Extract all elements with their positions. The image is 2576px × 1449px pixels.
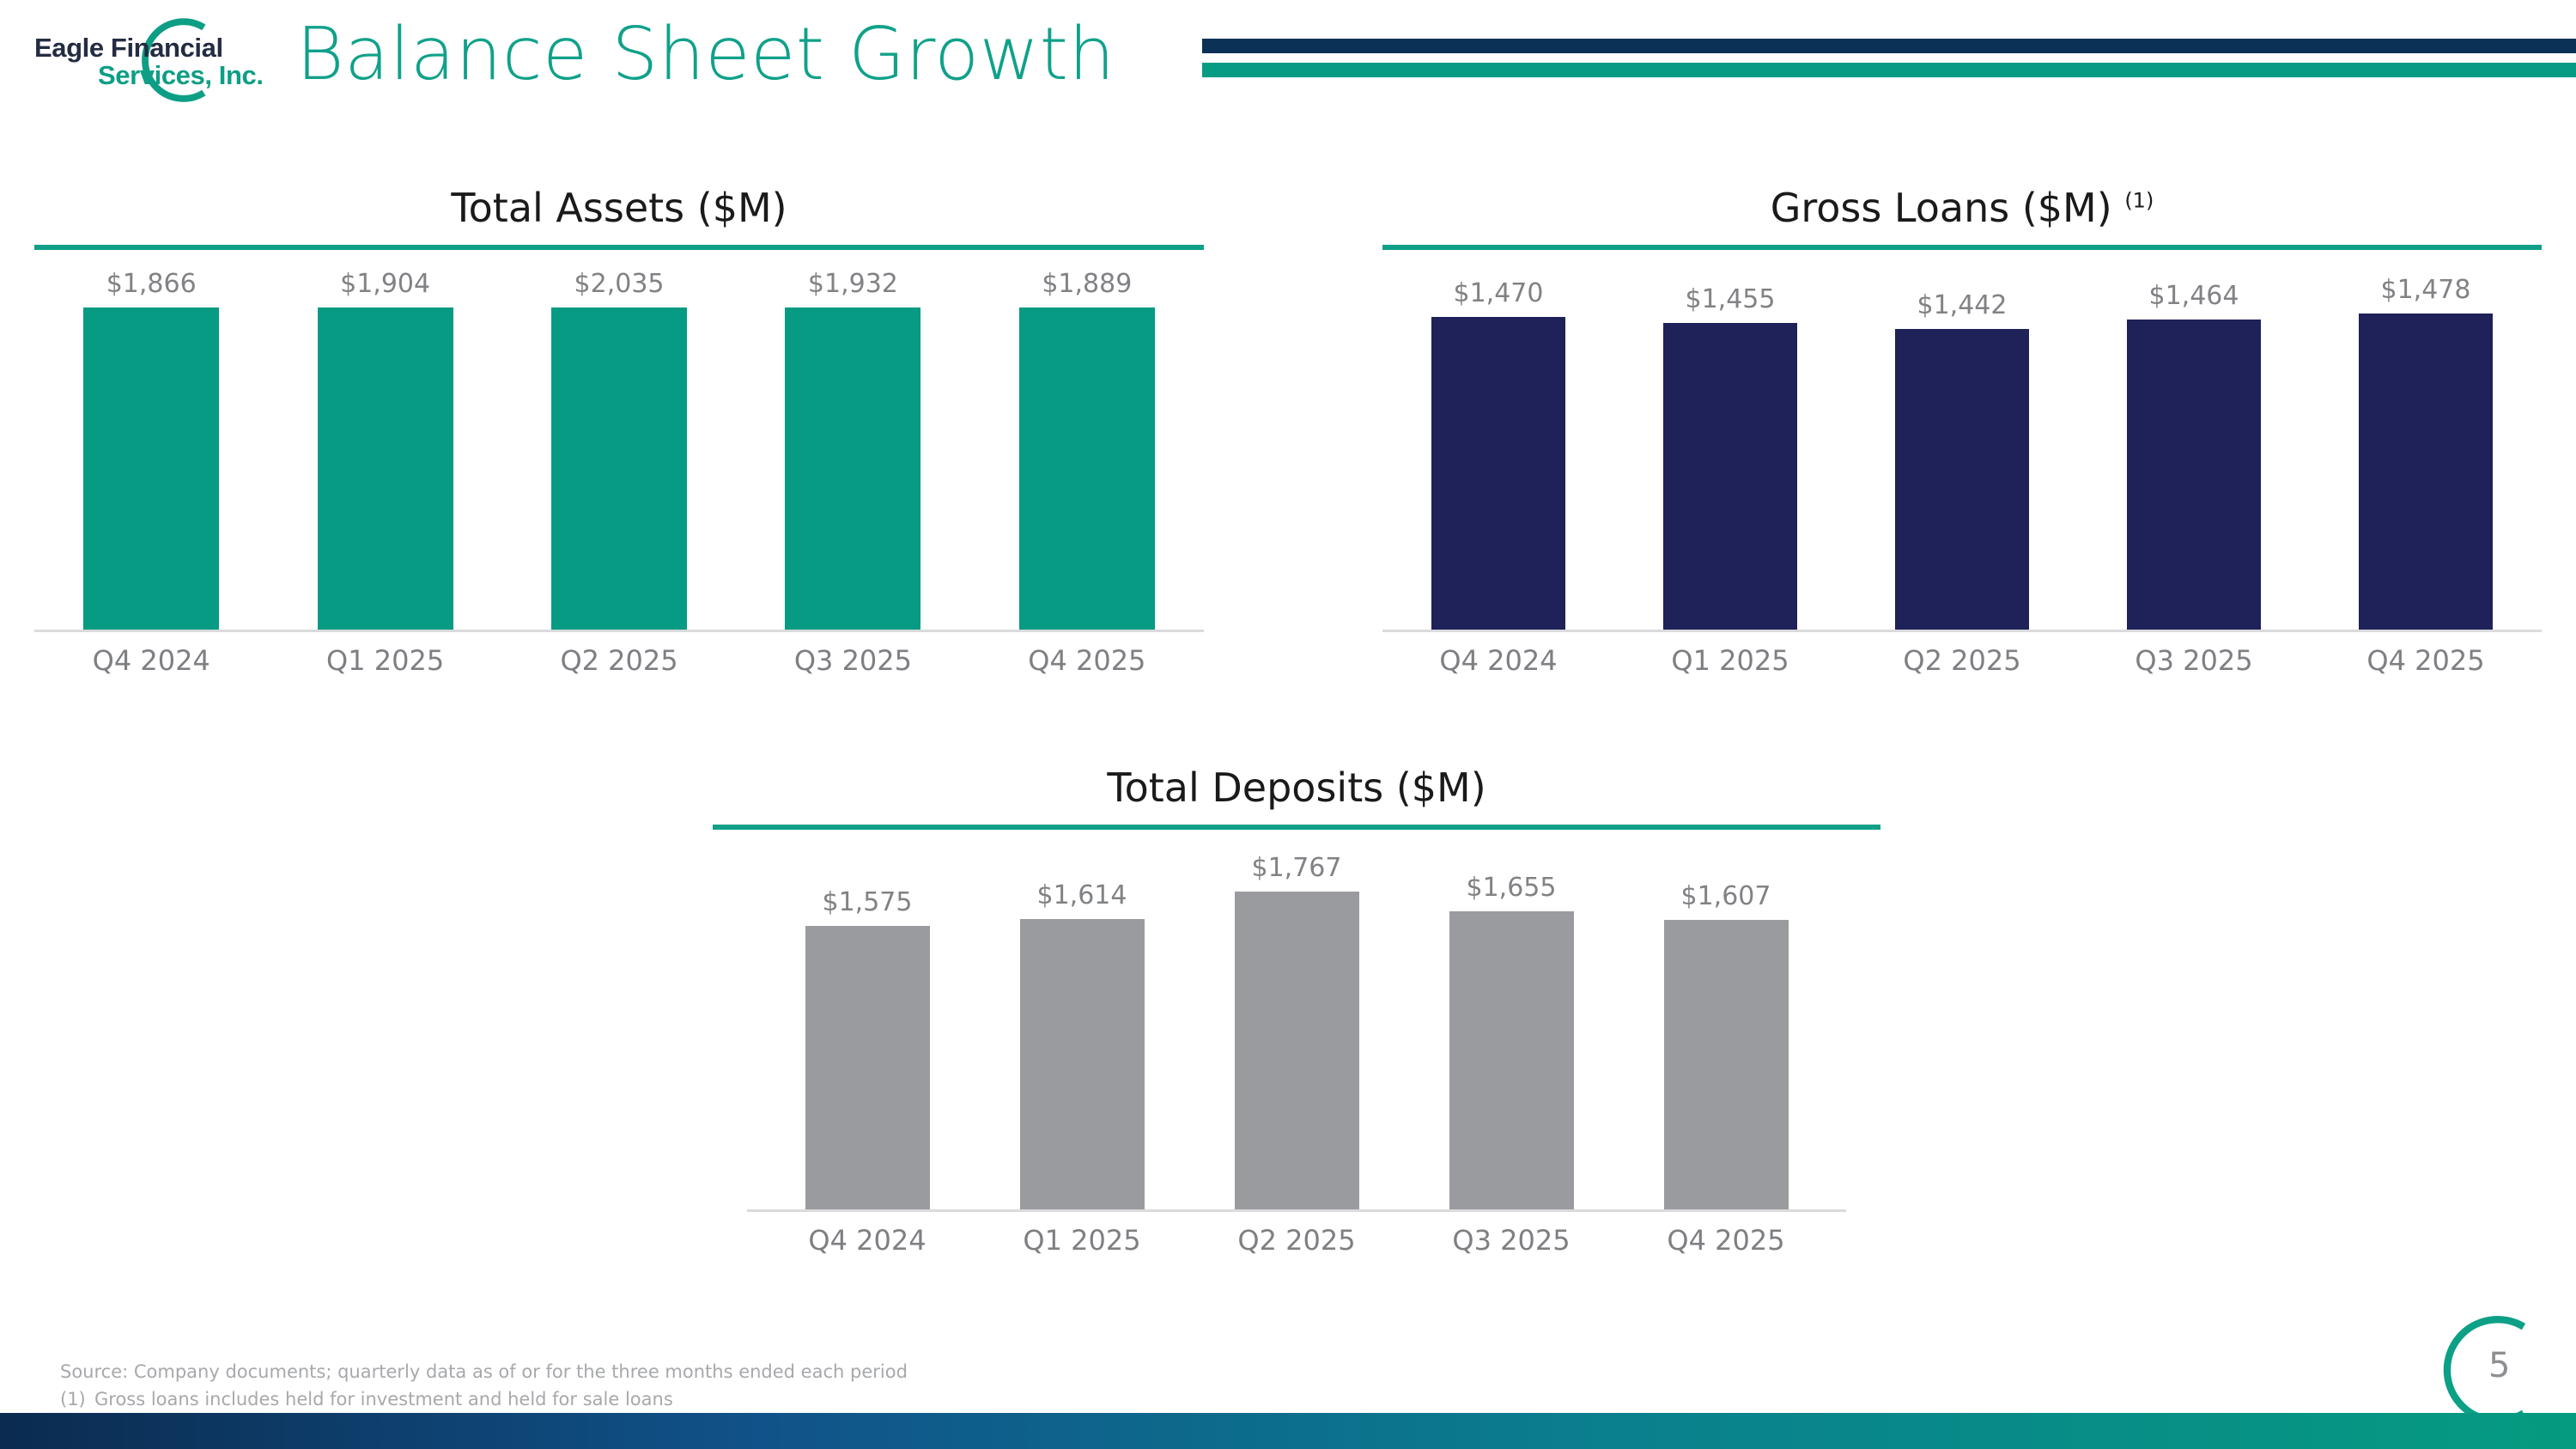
bar-column[interactable]: $1,442 (1846, 269, 2078, 630)
bar-column[interactable]: $1,889 (970, 269, 1204, 630)
chart-rule (34, 245, 1204, 250)
chart-total-assets: Total Assets ($M) $1,866 $1,904 $2,035 $… (34, 185, 1204, 677)
header-accent-bars (1202, 39, 2576, 82)
footnote-1-marker: (1) (60, 1386, 94, 1414)
x-axis-label: Q4 2024 (760, 1224, 975, 1257)
bar-value-label: $1,767 (1252, 853, 1342, 883)
bar-value-label: $1,455 (1686, 284, 1776, 314)
bar-value-label: $1,614 (1037, 880, 1127, 910)
x-axis-label: Q4 2025 (2310, 644, 2542, 677)
bar-column[interactable]: $1,470 (1382, 269, 1614, 630)
chart-title-total-assets: Total Assets ($M) (34, 185, 1204, 231)
plot-area: $1,575 $1,614 $1,767 $1,655 $1,607 (713, 849, 1880, 1209)
x-axis-label: Q1 2025 (268, 644, 501, 677)
x-axis-label: Q3 2025 (736, 644, 969, 677)
bar[interactable] (805, 926, 930, 1209)
x-axis-label: Q1 2025 (1614, 644, 1846, 677)
chart-title-text: Total Assets ($M) (451, 185, 787, 231)
x-axis-label: Q2 2025 (1189, 1224, 1404, 1257)
chart-total-deposits: Total Deposits ($M) $1,575 $1,614 $1,767… (713, 764, 1880, 1257)
bar-value-label: $1,575 (823, 887, 913, 917)
chart-gross-loans: Gross Loans ($M) (1) $1,470 $1,455 $1,44… (1382, 185, 2542, 677)
bar-group: $1,470 $1,455 $1,442 $1,464 $1,478 (1382, 269, 2542, 630)
x-axis-label: Q4 2024 (1382, 644, 1614, 677)
bar[interactable] (1431, 317, 1566, 630)
chart-rule (713, 825, 1880, 830)
bar[interactable] (785, 307, 920, 630)
bar-column[interactable]: $1,455 (1614, 269, 1846, 630)
bar[interactable] (83, 307, 219, 630)
bar-value-label: $1,442 (1917, 290, 2008, 320)
bar-column[interactable]: $1,607 (1619, 849, 1833, 1209)
bar-value-label: $1,464 (2149, 281, 2239, 311)
logo-line-1: Eagle Financial (27, 34, 276, 62)
bar-value-label: $1,904 (340, 269, 430, 299)
bar[interactable] (551, 307, 687, 630)
bar-column[interactable]: $1,655 (1404, 849, 1619, 1209)
footnote-source: Source: Company documents; quarterly dat… (60, 1359, 908, 1386)
bar-column[interactable]: $1,464 (2078, 269, 2310, 630)
footnotes: Source: Company documents; quarterly dat… (60, 1359, 908, 1413)
bar[interactable] (1020, 919, 1145, 1209)
x-axis-line (1382, 630, 2542, 632)
slide: Eagle Financial Services, Inc. Balance S… (0, 0, 2576, 1449)
x-axis-label: Q1 2025 (975, 1224, 1189, 1257)
footnote-1-row: (1) Gross loans includes held for invest… (60, 1386, 908, 1414)
bar[interactable] (2127, 320, 2262, 630)
logo-line-2: Services, Inc. (27, 62, 276, 89)
bar-value-label: $1,932 (808, 269, 898, 299)
x-axis-label: Q4 2025 (1619, 1224, 1833, 1257)
bar-column[interactable]: $1,478 (2310, 269, 2542, 630)
bar-value-label: $1,470 (1454, 278, 1544, 308)
x-axis-labels: Q4 2024 Q1 2025 Q2 2025 Q3 2025 Q4 2025 (713, 1224, 1880, 1257)
bar-value-label: $1,478 (2381, 275, 2471, 305)
bar-value-label: $2,035 (574, 269, 665, 299)
bar-column[interactable]: $1,575 (760, 849, 975, 1209)
x-axis-label: Q3 2025 (2078, 644, 2310, 677)
bar-group: $1,866 $1,904 $2,035 $1,932 $1,889 (34, 269, 1204, 630)
footer-gradient-bar (0, 1413, 2576, 1449)
bar-column[interactable]: $1,904 (268, 269, 501, 630)
bar-value-label: $1,866 (106, 269, 197, 299)
page-number: 5 (2488, 1346, 2510, 1385)
bar[interactable] (1235, 892, 1359, 1209)
x-axis-label: Q3 2025 (1404, 1224, 1619, 1257)
bar[interactable] (1663, 323, 1798, 630)
bar-column[interactable]: $1,767 (1189, 849, 1404, 1209)
bar[interactable] (1664, 920, 1789, 1209)
page-number-mark: 5 (2423, 1310, 2552, 1430)
bar-value-label: $1,889 (1042, 269, 1132, 299)
bar[interactable] (318, 307, 453, 630)
page-arc-icon (2423, 1310, 2552, 1430)
plot-area: $1,866 $1,904 $2,035 $1,932 $1,889 (34, 269, 1204, 630)
bar[interactable] (1895, 329, 2030, 630)
x-axis-label: Q2 2025 (502, 644, 736, 677)
bar-column[interactable]: $1,866 (34, 269, 268, 630)
chart-rule (1382, 245, 2542, 250)
plot-area: $1,470 $1,455 $1,442 $1,464 $1,478 (1382, 269, 2542, 630)
x-axis-label: Q4 2024 (34, 644, 268, 677)
bar-column[interactable]: $1,932 (736, 269, 969, 630)
x-axis-label: Q4 2025 (970, 644, 1204, 677)
x-axis-line (747, 1209, 1846, 1212)
header-bar-navy (1202, 39, 2576, 53)
footnote-1-text: Gross loans includes held for investment… (94, 1386, 673, 1414)
x-axis-labels: Q4 2024 Q1 2025 Q2 2025 Q3 2025 Q4 2025 (1382, 644, 2542, 677)
bar-value-label: $1,655 (1467, 873, 1557, 903)
bar[interactable] (1019, 307, 1155, 630)
page-title: Balance Sheet Growth (296, 12, 1115, 97)
bar-group: $1,575 $1,614 $1,767 $1,655 $1,607 (713, 849, 1880, 1209)
footnote-source-row: Source: Company documents; quarterly dat… (60, 1359, 908, 1386)
chart-title-gross-loans: Gross Loans ($M) (1) (1382, 185, 2542, 231)
x-axis-labels: Q4 2024 Q1 2025 Q2 2025 Q3 2025 Q4 2025 (34, 644, 1204, 677)
bar-column[interactable]: $1,614 (975, 849, 1189, 1209)
chart-title-total-deposits: Total Deposits ($M) (713, 764, 1880, 811)
bar-value-label: $1,607 (1681, 881, 1771, 911)
bar[interactable] (2359, 314, 2494, 630)
bar-column[interactable]: $2,035 (502, 269, 736, 630)
bar[interactable] (1449, 911, 1574, 1209)
x-axis-line (34, 630, 1204, 632)
company-logo: Eagle Financial Services, Inc. (27, 10, 276, 105)
x-axis-label: Q2 2025 (1846, 644, 2078, 677)
chart-title-text: Total Deposits ($M) (1107, 764, 1485, 811)
chart-title-footnote-marker: (1) (2124, 189, 2154, 213)
header-bar-teal (1202, 63, 2576, 77)
chart-title-text: Gross Loans ($M) (1771, 185, 2112, 231)
